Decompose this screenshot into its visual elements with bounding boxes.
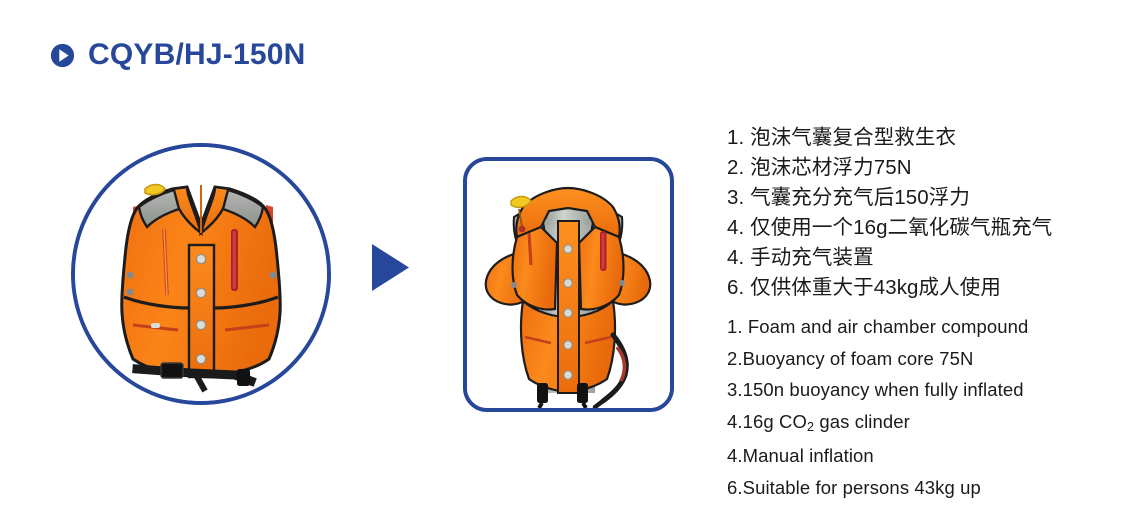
list-item: 6.Suitable for persons 43kg up (727, 472, 1087, 504)
product-spec-slide: CQYB/HJ-150N (0, 0, 1127, 510)
list-item-text: 1. Foam and air chamber compound (727, 316, 1028, 337)
list-item-text: 4.16g CO (727, 411, 807, 432)
list-item: 1. Foam and air chamber compound (727, 311, 1087, 343)
list-item: 2.Buoyancy of foam core 75N (727, 343, 1087, 375)
list-item: 4. 手动充气装置 (727, 243, 1087, 273)
list-item: 4.Manual inflation (727, 440, 1087, 472)
foam-life-vest-inflated-photo (467, 161, 670, 408)
triangle-right-icon (372, 244, 409, 291)
list-item-text: 3.150n buoyancy when fully inflated (727, 379, 1024, 400)
specifications-chinese-list: 1. 泡沫气囊复合型救生衣 2. 泡沫芯材浮力75N 3. 气囊充分充气后150… (727, 123, 1087, 303)
list-item-text-tail: gas clinder (814, 411, 910, 432)
subscript: 2 (807, 420, 814, 434)
list-item-text: 4.Manual inflation (727, 445, 874, 466)
list-item: 4.16g CO2 gas clinder (727, 406, 1087, 441)
left-product-photo-frame (71, 143, 331, 405)
page-title: CQYB/HJ-150N (88, 40, 305, 70)
list-item: 4. 仅使用一个16g二氧化碳气瓶充气 (727, 213, 1087, 243)
list-item: 1. 泡沫气囊复合型救生衣 (727, 123, 1087, 153)
specifications-english-list: 1. Foam and air chamber compound 2.Buoya… (727, 311, 1087, 503)
list-item: 3.150n buoyancy when fully inflated (727, 374, 1087, 406)
list-item: 2. 泡沫芯材浮力75N (727, 153, 1087, 183)
foam-life-vest-deflated-photo (75, 147, 327, 401)
list-item: 3. 气囊充分充气后150浮力 (727, 183, 1087, 213)
specifications-block: 1. 泡沫气囊复合型救生衣 2. 泡沫芯材浮力75N 3. 气囊充分充气后150… (727, 123, 1087, 503)
list-item-text: 6.Suitable for persons 43kg up (727, 477, 981, 498)
list-item: 6. 仅供体重大于43kg成人使用 (727, 273, 1087, 303)
right-product-photo-frame (463, 157, 674, 412)
page-title-row: CQYB/HJ-150N (50, 40, 305, 70)
list-item-text: 2.Buoyancy of foam core 75N (727, 348, 973, 369)
play-circle-icon (50, 43, 75, 68)
